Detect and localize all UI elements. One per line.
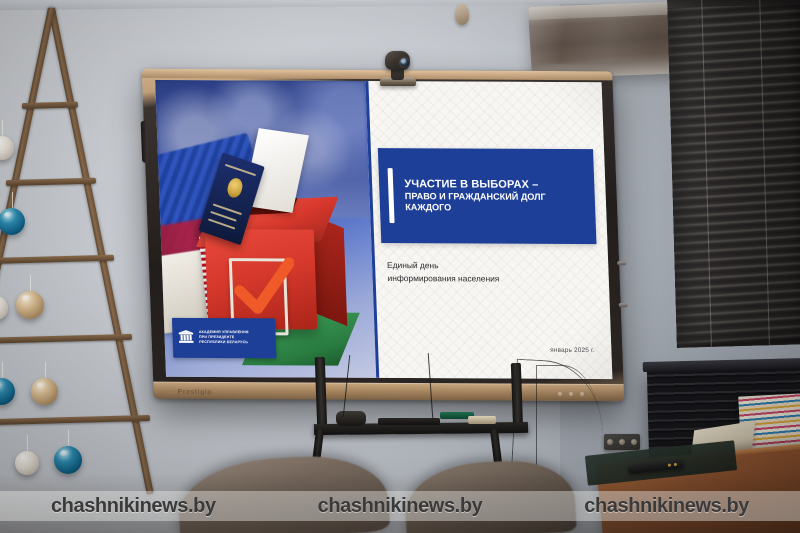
window-blinds[interactable] — [667, 0, 800, 348]
watermark-band: chashnikinews.by chashnikinews.by chashn… — [0, 491, 800, 521]
ptz-camera — [378, 50, 418, 86]
switch-button[interactable] — [619, 439, 625, 445]
bauble-string — [30, 275, 31, 291]
bauble-string — [12, 192, 13, 208]
tree-rung — [0, 334, 132, 344]
bauble-string — [2, 120, 3, 136]
academy-logo-text: АКАДЕМИЯ УПРАВЛЕНИЯ ПРИ ПРЕЗИДЕНТЕ РЕСПУ… — [199, 330, 249, 345]
presentation-slide: АКАДЕМИЯ УПРАВЛЕНИЯ ПРИ ПРЕЗИДЕНТЕ РЕСПУ… — [155, 80, 612, 379]
camera-lens-icon — [400, 58, 409, 67]
slide-title-line3: КАЖДОГО — [405, 202, 546, 214]
slide-subtitle-line2: информирования населения — [387, 272, 596, 286]
christmas-bauble-gold — [31, 378, 58, 405]
passport-text-line — [225, 164, 256, 176]
slide-title: УЧАСТИЕ В ВЫБОРАХ – ПРАВО И ГРАЖДАНСКИЙ … — [393, 178, 552, 214]
slide-subtitle: Единый день информирования населения — [387, 259, 596, 286]
christmas-bauble-teal — [54, 446, 82, 474]
academy-building-icon — [178, 329, 196, 346]
academy-logo-line3: РЕСПУБЛИКИ БЕЛАРУСЬ — [199, 340, 249, 345]
switch-button[interactable] — [631, 439, 637, 445]
tree-rung — [0, 415, 150, 426]
display-screen[interactable]: АКАДЕМИЯ УПРАВЛЕНИЯ ПРИ ПРЕЗИДЕНТЕ РЕСПУ… — [155, 80, 612, 379]
slide-text-column: УЧАСТИЕ В ВЫБОРАХ – ПРАВО И ГРАЖДАНСКИЙ … — [365, 81, 612, 379]
shelf-keyboard[interactable] — [378, 418, 440, 425]
wall-fixture — [455, 3, 469, 25]
academy-logo-badge: АКАДЕМИЯ УПРАВЛЕНИЯ ПРИ ПРЕЗИДЕНТЕ РЕСПУ… — [172, 317, 276, 358]
christmas-bauble-white — [0, 136, 14, 160]
shelf-paper — [468, 416, 496, 424]
camera-head — [385, 51, 410, 70]
christmas-bauble-white — [15, 451, 39, 475]
air-conditioner — [528, 1, 684, 79]
bauble-string — [2, 362, 3, 378]
slide-date: январь 2025 г. — [550, 347, 595, 354]
bauble-string — [68, 430, 69, 446]
passport-crest-icon — [225, 176, 245, 200]
watermark-text: chashnikinews.by — [318, 495, 483, 518]
display-mount-nub — [619, 303, 628, 307]
slide-title-band: УЧАСТИЕ В ВЫБОРАХ – ПРАВО И ГРАЖДАНСКИЙ … — [378, 148, 597, 244]
slide-title-line2: ПРАВО И ГРАЖДАНСКИЙ ДОЛГ — [405, 191, 546, 203]
tree-rung — [6, 178, 96, 186]
christmas-bauble-teal — [0, 378, 15, 405]
christmas-bauble-gold — [16, 291, 44, 319]
bauble-string — [27, 435, 28, 451]
tree-rung — [0, 255, 114, 264]
passport-text-line — [208, 219, 236, 230]
display-mount-nub — [617, 261, 626, 265]
display-frame: АКАДЕМИЯ УПРАВЛЕНИЯ ПРИ ПРЕЗИДЕНТЕ РЕСПУ… — [142, 69, 624, 401]
christmas-bauble-white — [0, 296, 8, 320]
wall-switch-plate[interactable] — [604, 434, 640, 450]
slide-subtitle-line1: Единый день — [387, 259, 596, 273]
switch-button[interactable] — [607, 439, 613, 445]
remote-button[interactable] — [668, 463, 671, 466]
watermark-text: chashnikinews.by — [51, 495, 216, 518]
watermark-text: chashnikinews.by — [584, 495, 749, 518]
display-brand-logo: Prestigio — [177, 389, 212, 396]
shelf-device — [336, 411, 366, 426]
bauble-string — [45, 362, 46, 378]
display-side-button[interactable] — [141, 121, 149, 163]
blinds-light — [667, 0, 800, 348]
slide-title-line1: УЧАСТИЕ В ВЫБОРАХ – — [404, 178, 545, 191]
interactive-display[interactable]: АКАДЕМИЯ УПРАВЛЕНИЯ ПРИ ПРЕЗИДЕНТЕ РЕСПУ… — [142, 69, 624, 401]
screenshot-scene: АКАДЕМИЯ УПРАВЛЕНИЯ ПРИ ПРЕЗИДЕНТЕ РЕСПУ… — [0, 0, 800, 533]
slide-photo: АКАДЕМИЯ УПРАВЛЕНИЯ ПРИ ПРЕЗИДЕНТЕ РЕСПУ… — [155, 80, 376, 378]
christmas-bauble-teal — [0, 208, 25, 235]
remote-button[interactable] — [674, 463, 677, 466]
